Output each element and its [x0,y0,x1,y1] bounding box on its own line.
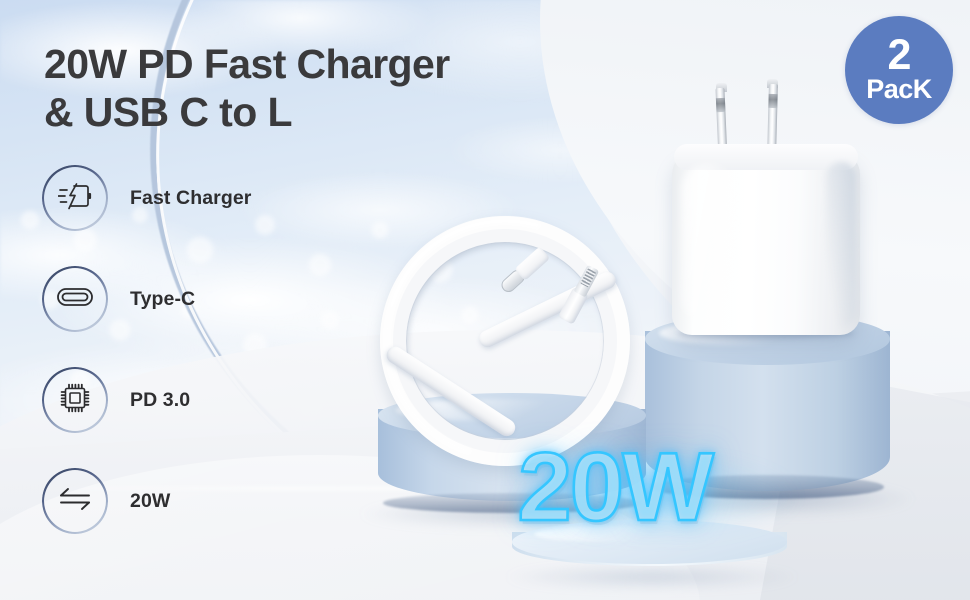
pack-count-label: PacK [866,76,932,103]
feature-label: 20W [130,470,170,532]
feature-item-fast-charger: Fast Charger [44,167,252,268]
feature-list: Fast Charger Type-C [44,167,252,571]
pack-count-badge: 2 PacK [845,16,953,124]
coiled-usb-c-to-lightning-cable [380,216,630,466]
feature-icon-ring [44,268,106,330]
plate-shadow [502,564,802,590]
feature-label: Type-C [130,268,195,330]
adapter-gloss-left [682,164,734,324]
type-c-connector-icon [57,288,93,311]
pack-count-number: 2 [888,35,911,75]
feature-icon-ring [44,167,106,229]
neon-wattage-text: 20W [517,438,712,535]
adapter-gloss-right [826,162,856,327]
feature-icon-ring [44,369,106,431]
feature-item-pd30: PD 3.0 [44,369,252,470]
fast-charger-icon [58,182,92,215]
feature-item-20w: 20W [44,470,252,571]
feature-label: Fast Charger [130,167,252,229]
chip-icon [59,382,91,419]
feature-item-type-c: Type-C [44,268,252,369]
transfer-arrows-icon [59,487,91,516]
product-banner: 20W 20W PD Fast Charger & USB C to L Fas… [0,0,970,600]
usb-c-power-adapter [672,140,860,335]
feature-label: PD 3.0 [130,369,190,431]
page-title: 20W PD Fast Charger & USB C to L [44,40,450,137]
feature-icon-ring [44,470,106,532]
